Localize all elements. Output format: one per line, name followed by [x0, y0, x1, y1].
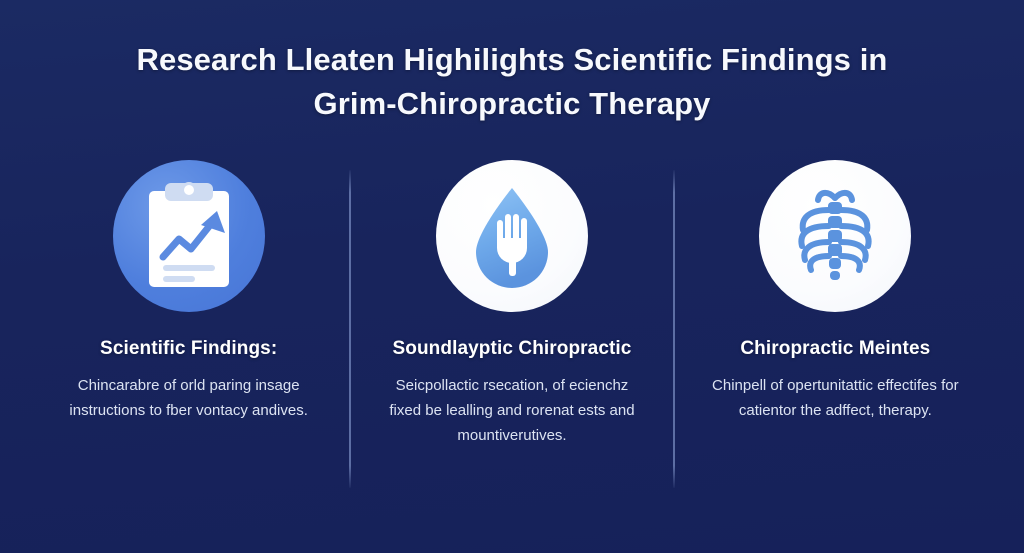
column-scientific-findings: Scientific Findings: Chincarabre of orld… — [28, 160, 349, 423]
columns-container: Scientific Findings: Chincarabre of orld… — [28, 160, 996, 488]
page-title: Research Lleaten Highilights Scientific … — [0, 38, 1024, 126]
column-body-text: Chincarabre of orld paring insage instru… — [59, 373, 319, 423]
water-drop-hand-icon — [436, 160, 588, 312]
infographic-canvas: Research Lleaten Highilights Scientific … — [0, 0, 1024, 553]
column-heading: Chiropractic Meintes — [740, 336, 930, 362]
title-line-2: Grim-Chiropractic Therapy — [70, 82, 954, 126]
column-chiropractic-meintes: Chiropractic Meintes Chinpell of opertun… — [675, 160, 996, 423]
ribcage-spine-icon — [759, 160, 911, 312]
column-heading: Scientific Findings: — [100, 336, 277, 362]
clipboard-chart-icon — [113, 160, 265, 312]
column-body-text: Chinpell of opertunitattic effectifes fo… — [705, 373, 965, 423]
column-body-text: Seicpollactic rsecation, of ecienchz fix… — [382, 373, 642, 448]
title-line-1: Research Lleaten Highilights Scientific … — [70, 38, 954, 82]
column-heading: Soundlayptic Chiropractic — [393, 336, 632, 362]
column-soundlayptic-chiropractic: Soundlayptic Chiropractic Seicpollactic … — [351, 160, 672, 448]
